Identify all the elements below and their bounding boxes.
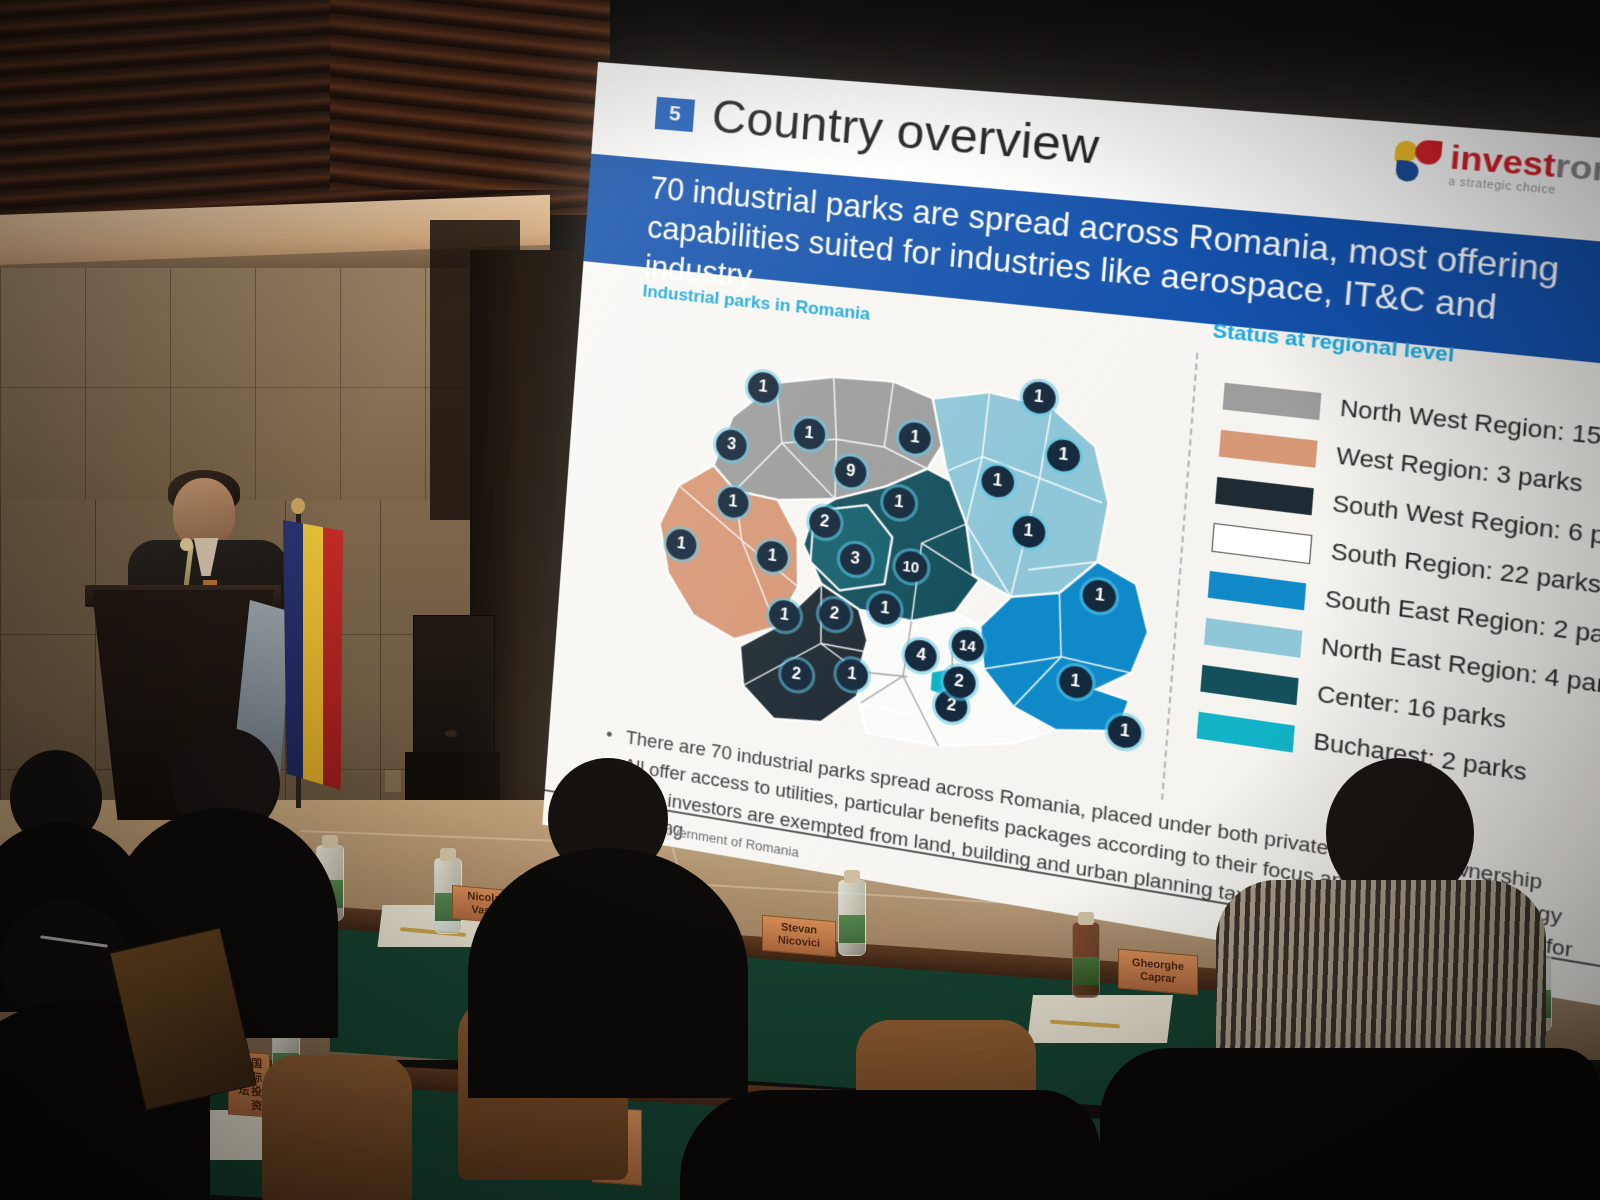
slide-number-badge: 5 xyxy=(655,97,695,132)
conference-room-scene: 5 Country overview investromania a strat… xyxy=(0,0,1600,1200)
presenter-head xyxy=(173,478,235,548)
romanian-flag xyxy=(283,520,343,790)
loudspeaker-badge-icon xyxy=(445,730,457,737)
legend-color-swatch xyxy=(1215,476,1314,514)
attendee xyxy=(468,848,748,1098)
legend-color-swatch xyxy=(1200,664,1298,704)
chair xyxy=(262,1055,412,1200)
notepad xyxy=(1027,995,1173,1043)
romania-map: 113911111231011111111221141422 xyxy=(601,304,1190,788)
attendee xyxy=(1100,1048,1600,1200)
ceiling-wood-slats-secondary xyxy=(330,0,610,190)
invest-romania-logo: investromania a strategic choice xyxy=(1392,138,1600,209)
slide-title: Country overview xyxy=(710,87,1101,175)
wall-outlet xyxy=(385,770,401,792)
flag-finial-icon xyxy=(291,498,305,514)
microphone-head-icon xyxy=(180,538,193,551)
legend-color-swatch xyxy=(1197,711,1295,752)
legend-color-swatch xyxy=(1208,570,1306,609)
legend-color-swatch xyxy=(1219,429,1318,467)
legend-color-swatch xyxy=(1211,522,1312,563)
map-legend: North West Region: 15 parksWest Region: … xyxy=(1196,372,1600,815)
legend-color-swatch xyxy=(1223,382,1322,419)
nameplate: Stevan Nicovici xyxy=(762,915,836,957)
logo-petals-icon xyxy=(1392,138,1446,188)
water-bottle xyxy=(838,880,866,956)
attendee xyxy=(680,1090,1100,1200)
bullet-dot-icon: • xyxy=(605,720,627,751)
nameplate: Gheorghe Caprar xyxy=(1118,949,1198,996)
water-bottle xyxy=(1072,922,1100,998)
legend-color-swatch xyxy=(1204,617,1302,657)
